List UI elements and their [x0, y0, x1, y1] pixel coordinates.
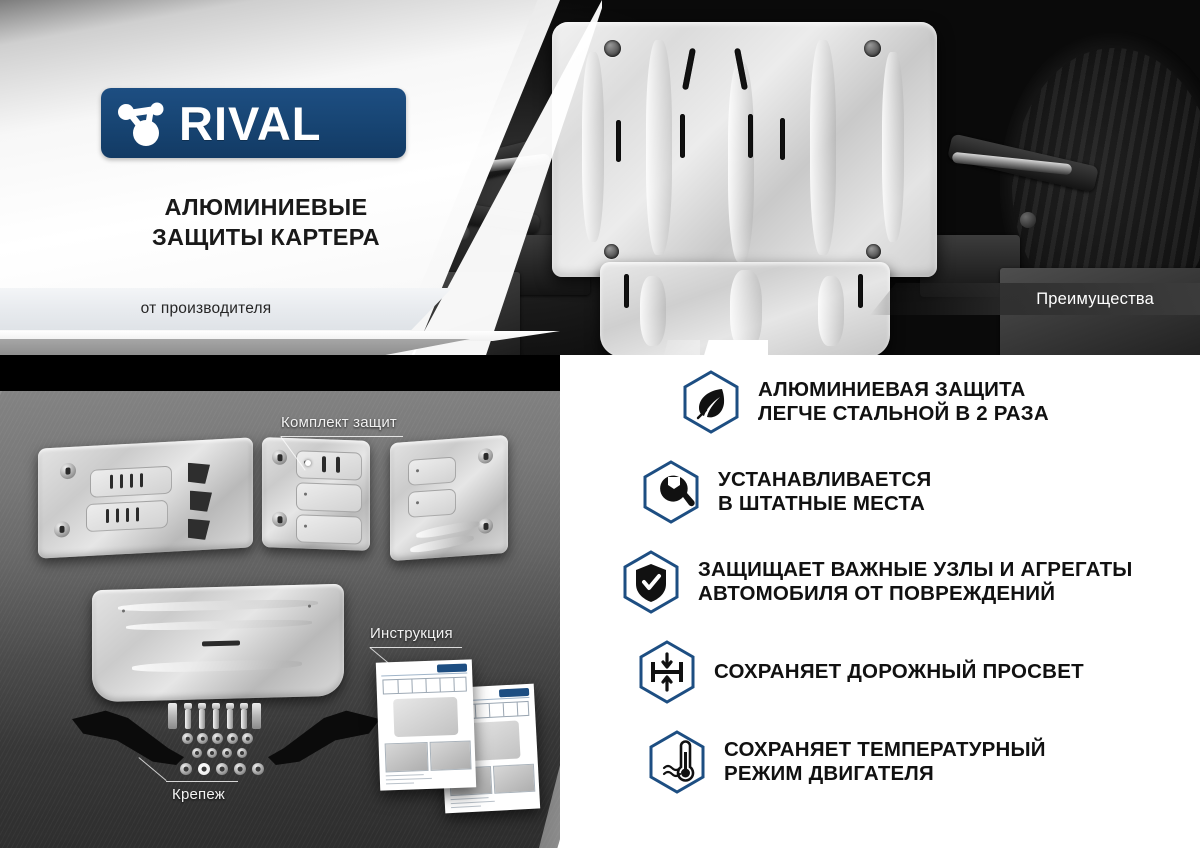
- tab-advantages[interactable]: Преимущества: [870, 283, 1200, 315]
- brand-wordmark: RIVAL: [179, 100, 322, 147]
- skid-plate-middle: [262, 437, 370, 551]
- plate-vent-slot-8: [136, 507, 139, 521]
- washer-8: [222, 748, 232, 758]
- molecule-icon: [115, 97, 173, 149]
- plate-b-slot-2: [858, 274, 863, 308]
- feature-item-fitment: УСТАНАВЛИВАЕТСЯ В ШТАТНЫЕ МЕСТА: [642, 460, 1200, 524]
- plate-slot-1: [616, 120, 621, 162]
- plate-vent-slot-4: [140, 473, 143, 487]
- callout-kit-rule: [281, 436, 403, 437]
- plate-louvre-3: [188, 518, 210, 541]
- mid-dot-3: [304, 525, 307, 528]
- bolt-shaft-5: [241, 709, 247, 729]
- sheet-back-photo-2: [493, 764, 535, 794]
- leaf-icon: [682, 370, 740, 434]
- subtitle-band: от производителя: [0, 288, 452, 330]
- bolt-shaft-3: [213, 709, 219, 729]
- plate-louvre-2: [190, 490, 212, 513]
- plate-hole-tl: [604, 40, 621, 57]
- plate-eyelet-bl: [54, 521, 70, 538]
- plate-rib-3: [728, 62, 754, 262]
- plate-rib-5: [882, 52, 904, 242]
- sheet-front-logo: [437, 664, 467, 673]
- sheet-front-table: [382, 677, 466, 695]
- tab-advantages-label: Преимущества: [1036, 290, 1154, 309]
- plate-b-rib-1: [640, 276, 666, 346]
- sheet-front-line-1: [386, 774, 424, 776]
- front-rib-3: [132, 659, 302, 673]
- feature-temperature-line2: РЕЖИМ ДВИГАТЕЛЯ: [724, 762, 1046, 786]
- feature-text-weight: АЛЮМИНИЕВАЯ ЗАЩИТА ЛЕГЧЕ СТАЛЬНОЙ В 2 РА…: [758, 378, 1049, 426]
- page-subtitle: от производителя: [141, 300, 312, 318]
- plate-b-slot-1: [624, 274, 629, 308]
- mid-pad-3: [296, 514, 362, 544]
- mid-pad-2: [296, 482, 362, 512]
- sheet-back-line-3: [451, 806, 481, 809]
- feature-text-fitment: УСТАНАВЛИВАЕТСЯ В ШТАТНЫЕ МЕСТА: [718, 468, 931, 516]
- bolt-shaft-1: [185, 709, 191, 729]
- washer-13: [234, 763, 246, 775]
- thermometer-icon: [648, 730, 706, 794]
- sheet-front-photo-2: [430, 740, 472, 770]
- sheet-front-line-2: [386, 778, 432, 781]
- feature-temperature-line1: СОХРАНЯЕТ ТЕМПЕРАТУРНЫЙ: [724, 738, 1046, 762]
- feature-item-temperature: СОХРАНЯЕТ ТЕМПЕРАТУРНЫЙ РЕЖИМ ДВИГАТЕЛЯ: [648, 730, 1200, 794]
- page-title-line1: АЛЮМИНИЕВЫЕ: [101, 193, 431, 223]
- plate-rib-2: [646, 40, 672, 255]
- plate-hole-bl: [604, 244, 619, 259]
- mid-dot-2: [304, 493, 307, 496]
- washer-3: [212, 733, 223, 744]
- front-dot-2: [308, 605, 311, 608]
- bolt-shaft-2: [199, 709, 205, 729]
- front-rib-1: [118, 598, 318, 612]
- plate-slot-5: [748, 114, 753, 158]
- front-slot-1: [202, 640, 240, 646]
- skid-plate-right: [390, 435, 508, 561]
- plate-vent-slot-7: [126, 508, 129, 522]
- washer-5: [242, 733, 253, 744]
- callout-fasteners: Крепеж: [172, 786, 225, 803]
- wrench-icon: [642, 460, 700, 524]
- fastener-clip-left: [168, 703, 177, 729]
- plate-eyelet-tl: [60, 463, 76, 480]
- washer-2: [197, 733, 208, 744]
- page-title: АЛЮМИНИЕВЫЕ ЗАЩИТЫ КАРТЕРА: [101, 193, 431, 252]
- washer-10: [180, 763, 192, 775]
- plate-slot-3: [682, 48, 696, 90]
- plate-hole-tr: [864, 40, 881, 57]
- fastener-clip-right: [252, 703, 261, 729]
- sheet-back-line-2: [451, 801, 495, 804]
- feature-weight-line2: ЛЕГЧЕ СТАЛЬНОЙ В 2 РАЗА: [758, 402, 1049, 426]
- mid-eyelet-bottom: [272, 511, 287, 527]
- sheet-front-line-3: [386, 782, 414, 784]
- plate-vent-slot-2: [120, 474, 123, 488]
- plate-vent-slot-1: [110, 475, 113, 489]
- skid-plate-front-large: [92, 584, 344, 703]
- mid-slot-2: [336, 457, 340, 473]
- plate-slot-2: [680, 114, 685, 158]
- black-separator-band: [0, 355, 640, 391]
- page-title-line2: ЗАЩИТЫ КАРТЕРА: [101, 223, 431, 253]
- feature-clearance-line1: СОХРАНЯЕТ ДОРОЖНЫЙ ПРОСВЕТ: [714, 660, 1084, 684]
- promo-poster: Преимущества RIVAL АЛЮМИНИЕВЫЕ ЗАЩИТЫ КА…: [0, 0, 1200, 848]
- plate-vent-slot-5: [106, 509, 109, 523]
- washer-9: [237, 748, 247, 758]
- plate-b-rib-3: [818, 276, 844, 346]
- feature-fitment-line2: В ШТАТНЫЕ МЕСТА: [718, 492, 931, 516]
- callout-fasteners-rule: [166, 781, 238, 782]
- feature-item-clearance: СОХРАНЯЕТ ДОРОЖНЫЙ ПРОСВЕТ: [638, 640, 1200, 704]
- feature-item-protection: ЗАЩИЩАЕТ ВАЖНЫЕ УЗЛЫ И АГРЕГАТЫ АВТОМОБИ…: [622, 550, 1200, 614]
- feature-protection-line2: АВТОМОБИЛЯ ОТ ПОВРЕЖДЕНИЙ: [698, 582, 1133, 606]
- washer-1: [182, 733, 193, 744]
- callout-instruction: Инструкция: [370, 625, 453, 642]
- mid-slot-1: [322, 456, 326, 472]
- plate-vent-slot-3: [130, 474, 133, 488]
- washer-14: [252, 763, 264, 775]
- features-list: АЛЮМИНИЕВАЯ ЗАЩИТА ЛЕГЧЕ СТАЛЬНОЙ В 2 РА…: [660, 370, 1200, 794]
- washer-4: [227, 733, 238, 744]
- sheet-front-drawing: [393, 697, 458, 737]
- right-eyelet-br: [478, 518, 493, 534]
- callout-instruction-rule: [370, 647, 462, 648]
- feature-text-temperature: СОХРАНЯЕТ ТЕМПЕРАТУРНЫЙ РЕЖИМ ДВИГАТЕЛЯ: [724, 738, 1046, 786]
- sheet-back-logo: [499, 688, 529, 698]
- instruction-sheet-front: [376, 659, 476, 790]
- plate-rib-1: [582, 52, 604, 242]
- feature-protection-line1: ЗАЩИЩАЕТ ВАЖНЫЕ УЗЛЫ И АГРЕГАТЫ: [698, 558, 1133, 582]
- mid-eyelet-top: [272, 449, 287, 465]
- washer-12: [216, 763, 228, 775]
- plate-b-rib-2: [730, 270, 762, 350]
- washer-11: [198, 763, 210, 775]
- plate-hole-br: [866, 244, 881, 259]
- washer-6: [192, 748, 202, 758]
- plate-slot-6: [780, 118, 785, 160]
- shield-check-icon: [622, 550, 680, 614]
- feature-fitment-line1: УСТАНАВЛИВАЕТСЯ: [718, 468, 931, 492]
- bolt-shaft-4: [227, 709, 233, 729]
- ground-clearance-icon: [638, 640, 696, 704]
- front-rib-2: [126, 619, 312, 632]
- washer-7: [207, 748, 217, 758]
- feature-item-weight: АЛЮМИНИЕВАЯ ЗАЩИТА ЛЕГЧЕ СТАЛЬНОЙ В 2 РА…: [682, 370, 1200, 434]
- right-eyelet-tr: [478, 448, 493, 464]
- plate-louvre-1: [188, 462, 210, 485]
- skid-plate-large-left: [38, 437, 253, 558]
- front-dot-1: [122, 609, 125, 612]
- plate-rib-4: [810, 40, 836, 255]
- feature-weight-line1: АЛЮМИНИЕВАЯ ЗАЩИТА: [758, 378, 1049, 402]
- callout-kit: Комплект защит: [281, 414, 397, 431]
- brand-logo: RIVAL: [101, 88, 406, 158]
- features-panel: АЛЮМИНИЕВАЯ ЗАЩИТА ЛЕГЧЕ СТАЛЬНОЙ В 2 РА…: [560, 355, 1200, 848]
- feature-text-protection: ЗАЩИЩАЕТ ВАЖНЫЕ УЗЛЫ И АГРЕГАТЫ АВТОМОБИ…: [698, 558, 1133, 606]
- installed-skid-plate-upper: [552, 22, 937, 277]
- plate-vent-slot-6: [116, 508, 119, 522]
- sheet-front-photo-1: [385, 742, 429, 772]
- callout-kit-dot: [305, 460, 311, 466]
- sheet-back-line-1: [451, 797, 489, 800]
- chassis-bolt-2: [1020, 212, 1036, 228]
- feature-text-clearance: СОХРАНЯЕТ ДОРОЖНЫЙ ПРОСВЕТ: [714, 660, 1084, 684]
